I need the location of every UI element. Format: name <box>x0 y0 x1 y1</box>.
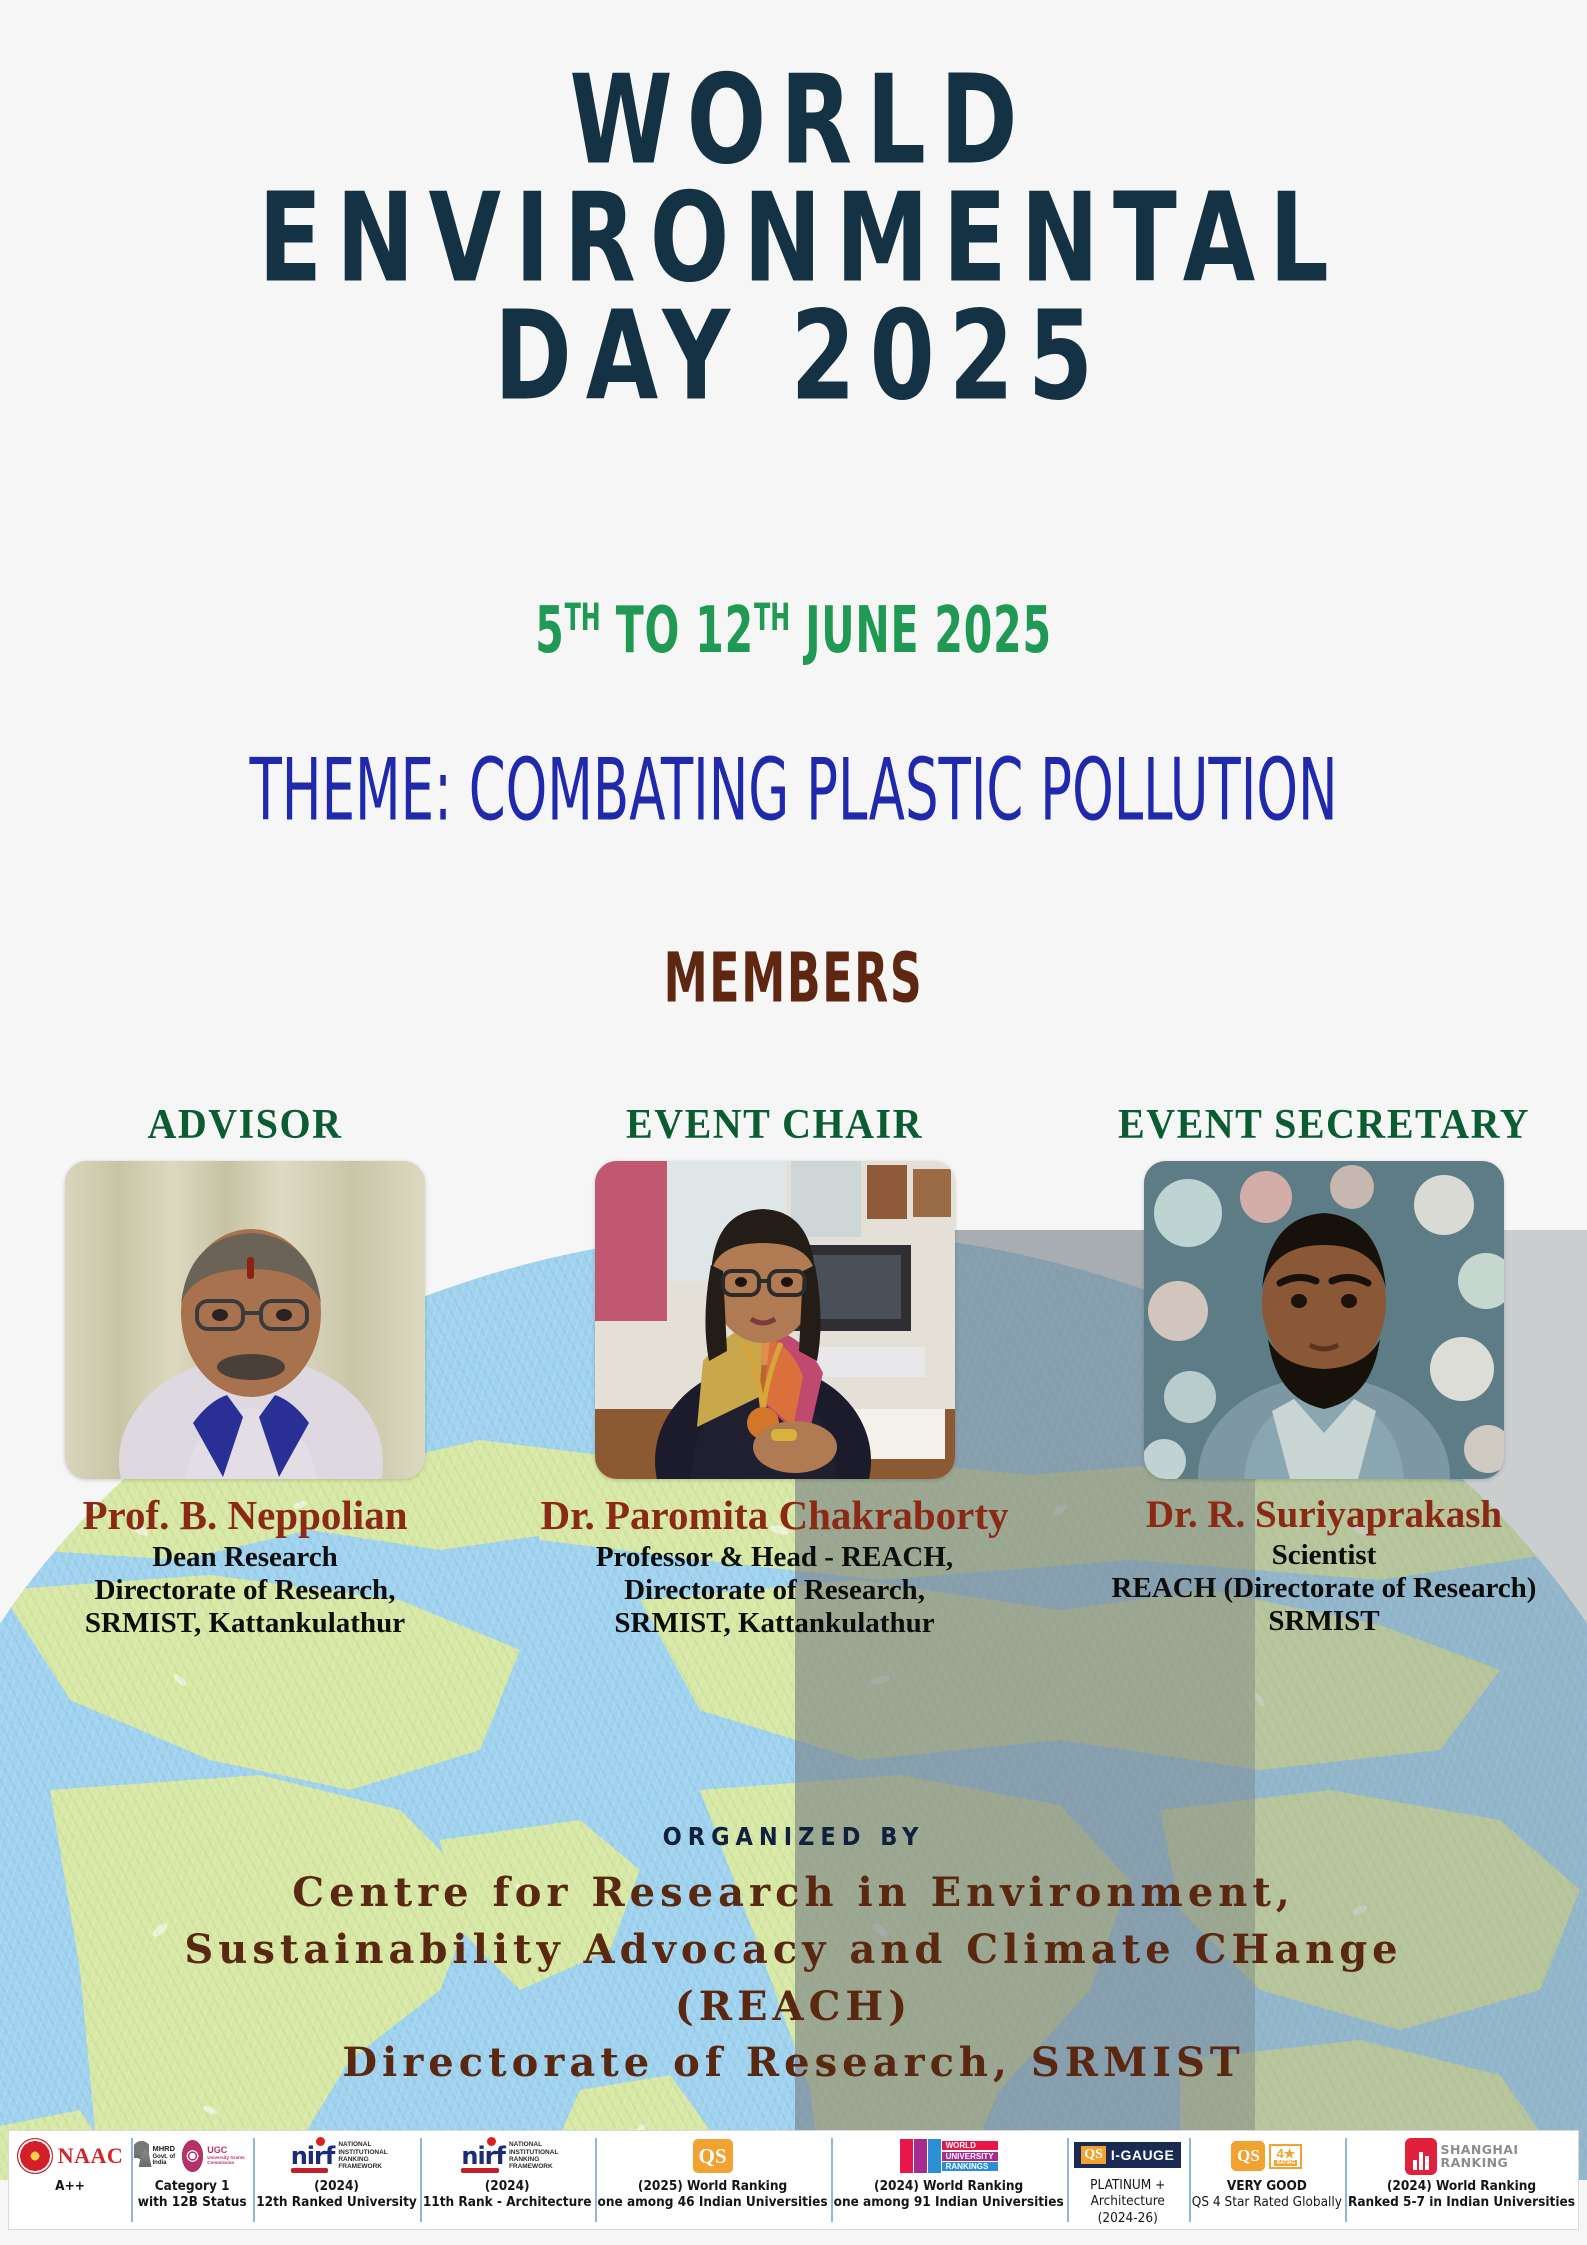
naac-logo-icon: NAAC <box>17 2136 124 2176</box>
date-ordinal-1: TH <box>565 595 601 639</box>
title-line-2: ENVIRONMENTAL <box>0 180 1587 298</box>
shanghai-logo-icon: SHANGHAI RANKING <box>1405 2136 1519 2176</box>
naac-wordmark: NAAC <box>58 2143 124 2169</box>
designation-line: Professor & Head - REACH, <box>596 1541 953 1574</box>
qs-star-rating-label: RATING <box>1274 2160 1297 2166</box>
member-card-advisor: ADVISOR <box>30 1100 460 1640</box>
designation-line: REACH (Directorate of Research) <box>1112 1572 1537 1605</box>
nirf-rank: 11th Rank - Architecture <box>423 2194 592 2210</box>
shanghai-word-2: RANKING <box>1441 2156 1519 2169</box>
organizer-line-4: Directorate of Research, SRMIST <box>0 2035 1587 2092</box>
nirf-rank: 12th Ranked University <box>256 2194 417 2210</box>
accreditation-nirf-architecture: nirf NATIONAL INSTITUTIONAL RANKING FRAM… <box>420 2131 595 2229</box>
designation-line: Scientist <box>1112 1539 1537 1572</box>
accreditation-shanghai: SHANGHAI RANKING (2024) World Ranking Ra… <box>1345 2131 1578 2229</box>
mhrd-sublabel: Govt. of India <box>153 2154 178 2167</box>
avatar-event-chair <box>595 1161 955 1479</box>
organizer-line-3: (REACH) <box>0 1979 1587 2036</box>
event-date: 5TH TO 12TH JUNE 2025 <box>159 594 1429 668</box>
accreditation-qs-world: QS (2025) World Ranking one among 46 Ind… <box>595 2131 831 2229</box>
designation-line: Dean Research <box>85 1541 405 1574</box>
the-word-world: WORLD <box>942 2141 998 2150</box>
event-theme: THEME: COMBATING PLASTIC POLLUTION <box>127 740 1460 840</box>
the-word-rankings: RANKINGS <box>942 2162 998 2171</box>
page-title: WORLD ENVIRONMENTAL DAY 2025 <box>0 62 1587 415</box>
igauge-grade: PLATINUM + <box>1090 2177 1165 2193</box>
qs-star-count: 4★ <box>1276 2147 1295 2160</box>
member-card-event-chair: EVENT CHAIR <box>540 1100 1010 1640</box>
the-logo-icon: WORLD UNIVERSITY RANKINGS <box>900 2136 998 2176</box>
member-name: Dr. R. Suriyaprakash <box>1146 1495 1502 1535</box>
designation-line: Directorate of Research, <box>596 1574 953 1607</box>
qs-logo-icon: QS <box>693 2136 733 2176</box>
portrait-advisor-illustration <box>65 1161 425 1479</box>
member-role-label: ADVISOR <box>148 1099 343 1149</box>
avatar-event-secretary <box>1144 1161 1504 1479</box>
portrait-event-secretary-illustration <box>1144 1161 1504 1479</box>
qs-4star-logo-icon: QS 4★ RATING <box>1231 2136 1302 2176</box>
portrait-event-chair-illustration <box>595 1161 955 1479</box>
member-designation: Scientist REACH (Directorate of Research… <box>1112 1539 1537 1638</box>
shanghai-rank: Ranked 5-7 in Indian Universities <box>1348 2194 1575 2210</box>
ugc-category: Category 1 <box>155 2178 230 2194</box>
accreditation-naac: NAAC A++ <box>9 2131 131 2229</box>
accreditation-ugc: MHRD Govt. of India UGC University Grant… <box>131 2131 253 2229</box>
organizer-line-2: Sustainability Advocacy and Climate CHan… <box>0 1922 1587 1979</box>
india-emblem-icon <box>134 2141 148 2171</box>
member-role-label: EVENT SECRETARY <box>1118 1099 1530 1149</box>
nirf-year: (2024) <box>485 2178 530 2194</box>
nirf-fullname: NATIONAL INSTITUTIONAL RANKING FRAMEWORK <box>509 2141 553 2170</box>
avatar-advisor <box>65 1161 425 1479</box>
naac-seal-icon <box>17 2138 53 2174</box>
naac-grade: A++ <box>55 2178 85 2194</box>
igauge-period: (2024-26) <box>1098 2210 1158 2226</box>
qs-star-text: QS 4 Star Rated Globally <box>1192 2194 1342 2210</box>
qs-year: (2025) World Ranking <box>638 2178 787 2194</box>
igauge-domain: Architecture <box>1091 2193 1165 2209</box>
members-row: ADVISOR <box>0 1100 1587 1740</box>
date-middle: TO 12 <box>601 594 754 668</box>
igauge-qs-mark: QS <box>1081 2146 1106 2164</box>
the-word-university: UNIVERSITY <box>942 2152 998 2161</box>
mhrd-label: MHRD <box>153 2145 178 2153</box>
designation-line: SRMIST <box>1112 1605 1537 1638</box>
designation-line: SRMIST, Kattankulathur <box>596 1607 953 1640</box>
member-name: Dr. Paromita Chakraborty <box>540 1495 1008 1537</box>
ugc-sublabel: University Grants Commission <box>207 2156 250 2166</box>
qs-rank: one among 46 Indian Universities <box>598 2194 828 2210</box>
designation-line: SRMIST, Kattankulathur <box>85 1607 405 1640</box>
accreditation-qs-igauge: QS I-GAUGE PLATINUM + Architecture (2024… <box>1067 2131 1189 2229</box>
igauge-wordmark: I-GAUGE <box>1111 2147 1174 2163</box>
the-year: (2024) World Ranking <box>874 2178 1023 2194</box>
organizer-name: Centre for Research in Environment, Sust… <box>0 1865 1587 2092</box>
title-line-3: DAY 2025 <box>0 298 1587 416</box>
date-day-start: 5 <box>535 594 564 668</box>
member-card-event-secretary: EVENT SECRETARY <box>1089 1100 1559 1638</box>
title-line-1: WORLD <box>0 62 1587 180</box>
mhrd-ugc-logo-icon: MHRD Govt. of India UGC University Grant… <box>134 2136 250 2176</box>
member-designation: Professor & Head - REACH, Directorate of… <box>596 1541 953 1640</box>
the-rank: one among 91 Indian Universities <box>834 2194 1064 2210</box>
nirf-logo-icon: nirf NATIONAL INSTITUTIONAL RANKING FRAM… <box>461 2136 553 2176</box>
accreditation-nirf-university: nirf NATIONAL INSTITUTIONAL RANKING FRAM… <box>253 2131 420 2229</box>
ugc-wheel-icon <box>182 2140 204 2172</box>
members-heading: MEMBERS <box>143 938 1444 1019</box>
organized-by-label: ORGANIZED BY <box>0 1822 1587 1851</box>
poster-content: WORLD ENVIRONMENTAL DAY 2025 5TH TO 12TH… <box>0 0 1587 2245</box>
organizer-line-1: Centre for Research in Environment, <box>0 1865 1587 1922</box>
accreditation-footer-bar: NAAC A++ MHRD Govt. of India UGC Univers… <box>8 2130 1579 2230</box>
qs-star-grade: VERY GOOD <box>1227 2178 1307 2194</box>
nirf-year: (2024) <box>314 2178 359 2194</box>
shanghai-year: (2024) World Ranking <box>1387 2178 1536 2194</box>
date-month-year: JUNE 2025 <box>790 594 1052 668</box>
member-designation: Dean Research Directorate of Research, S… <box>85 1541 405 1640</box>
qs-igauge-logo-icon: QS I-GAUGE <box>1074 2136 1181 2175</box>
organized-by-block: ORGANIZED BY Centre for Research in Envi… <box>0 1822 1587 2092</box>
nirf-logo-icon: nirf NATIONAL INSTITUTIONAL RANKING FRAM… <box>291 2136 383 2176</box>
poster-canvas: WORLD ENVIRONMENTAL DAY 2025 5TH TO 12TH… <box>0 0 1587 2245</box>
ugc-status: with 12B Status <box>138 2194 247 2210</box>
nirf-fullname: NATIONAL INSTITUTIONAL RANKING FRAMEWORK <box>338 2141 382 2170</box>
designation-line: Directorate of Research, <box>85 1574 405 1607</box>
accreditation-the: WORLD UNIVERSITY RANKINGS (2024) World R… <box>831 2131 1067 2229</box>
accreditation-qs-stars: QS 4★ RATING VERY GOOD QS 4 Star Rated G… <box>1189 2131 1345 2229</box>
member-role-label: EVENT CHAIR <box>626 1099 923 1149</box>
member-name: Prof. B. Neppolian <box>83 1495 408 1537</box>
date-ordinal-2: TH <box>754 595 790 639</box>
